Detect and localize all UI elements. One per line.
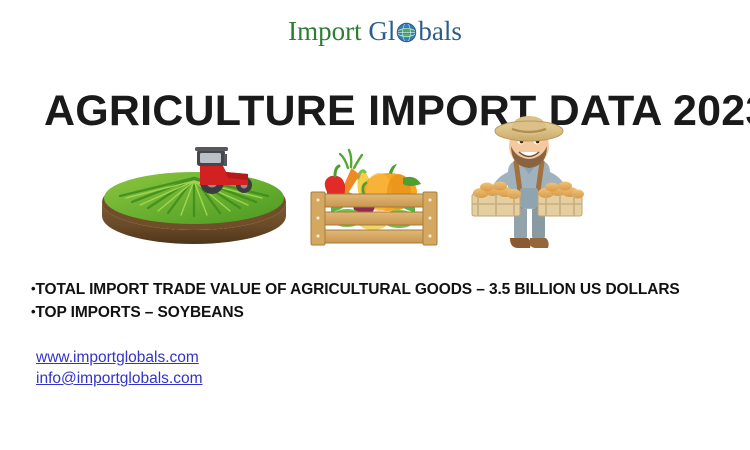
website-link[interactable]: www.importglobals.com — [36, 347, 203, 368]
bullet-text: TOTAL IMPORT TRADE VALUE OF AGRICULTURAL… — [35, 281, 679, 298]
vegetable-crate-image — [303, 134, 445, 246]
brand-word-import: Import — [288, 16, 362, 46]
brand-logo: Import Gl bals — [0, 14, 750, 48]
farmer-with-baskets-image — [466, 114, 592, 256]
slide-canvas: Import Gl bals AGRICULTURE IMPORT DATA 2… — [0, 0, 750, 450]
bullet-item-top-imports: •TOP IMPORTS – SOYBEANS — [31, 301, 721, 324]
artwork-row — [0, 112, 750, 262]
bullet-text: TOP IMPORTS – SOYBEANS — [35, 304, 243, 321]
bullet-list: •TOTAL IMPORT TRADE VALUE OF AGRICULTURA… — [31, 278, 721, 324]
brand-word-globals-suffix: bals — [418, 16, 462, 46]
farm-field-with-tractor-image — [96, 130, 291, 248]
brand-word-globals-prefix: Gl — [368, 16, 395, 46]
bullet-item-total-import-value: •TOTAL IMPORT TRADE VALUE OF AGRICULTURA… — [31, 278, 721, 301]
contact-links: www.importglobals.com info@importglobals… — [36, 347, 203, 389]
globe-icon — [396, 17, 417, 38]
email-link[interactable]: info@importglobals.com — [36, 368, 203, 389]
